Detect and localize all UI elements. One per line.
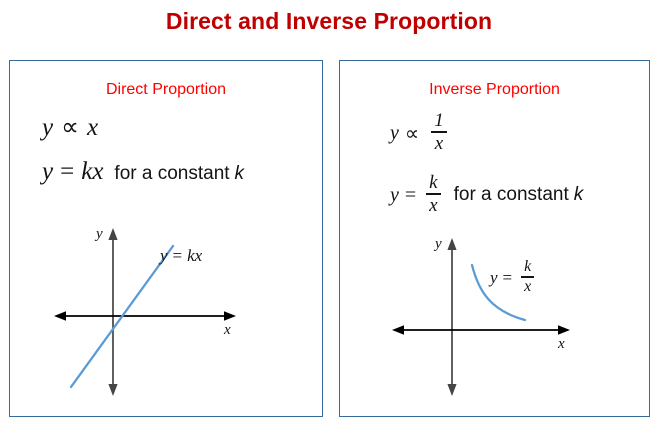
equation-lhs: y: [42, 114, 53, 141]
panel-title-direct: Direct Proportion: [10, 81, 322, 99]
label-lhs: y: [490, 268, 498, 288]
fraction-one-over-x: 1 x: [431, 111, 447, 153]
equation-rhs: kx: [81, 158, 103, 186]
equation-direct-proportionality: y∝x: [42, 112, 98, 142]
x-axis: [54, 311, 236, 321]
inverse-curve-label: y = k x: [490, 260, 534, 296]
page-title: Direct and Inverse Proportion: [0, 8, 658, 35]
graph-inverse-svg: [380, 232, 595, 402]
x-axis: [392, 325, 570, 335]
y-axis: [447, 238, 456, 396]
proportional-to-symbol: ∝: [405, 121, 419, 146]
fraction-k-over-x: k x: [521, 259, 534, 295]
equation-suffix-symbol: k: [235, 163, 245, 184]
proportional-to-symbol: ∝: [61, 114, 79, 141]
equals-symbol: =: [405, 184, 416, 207]
equals-symbol: =: [60, 158, 74, 186]
y-axis: [108, 228, 117, 396]
equation-inverse-proportionality: y ∝ 1 x: [390, 112, 447, 154]
graph-direct-proportion: y x y = kx: [40, 222, 250, 402]
fraction-numerator: k: [521, 259, 534, 275]
equation-suffix-text: for a constant: [114, 163, 229, 184]
y-axis-label: y: [96, 226, 103, 243]
label-equals: =: [173, 246, 183, 266]
y-axis-label: y: [435, 236, 442, 253]
equation-rhs: x: [87, 114, 98, 141]
equation-suffix-symbol: k: [574, 184, 584, 205]
fraction-numerator: 1: [431, 111, 447, 130]
equation-suffix: for a constantk: [114, 163, 244, 185]
equation-suffix-text: for a constant: [454, 184, 569, 205]
panel-title-inverse: Inverse Proportion: [340, 81, 649, 99]
label-equals: =: [503, 268, 513, 288]
fraction-denominator: x: [431, 134, 447, 153]
equation-lhs: y: [390, 122, 399, 145]
equation-direct-formula: y = kx for a constantk: [42, 158, 244, 186]
equation-inverse-formula: y = k x for a constantk: [390, 174, 583, 216]
label-lhs: y: [160, 246, 168, 266]
graph-inverse-proportion: y x y = k x: [380, 232, 595, 402]
x-axis-label: x: [224, 322, 231, 339]
x-axis-label: x: [558, 336, 565, 353]
fraction-numerator: k: [426, 173, 440, 192]
equation-lhs: y: [42, 158, 53, 186]
fraction-k-over-x: k x: [426, 173, 440, 215]
graph-direct-svg: [40, 222, 250, 402]
fraction-denominator: x: [521, 279, 534, 295]
equation-lhs: y: [390, 184, 399, 207]
fraction-denominator: x: [426, 196, 440, 215]
label-rhs: kx: [187, 246, 202, 266]
direct-line-label: y = kx: [160, 246, 202, 266]
equation-suffix: for a constantk: [454, 184, 584, 206]
